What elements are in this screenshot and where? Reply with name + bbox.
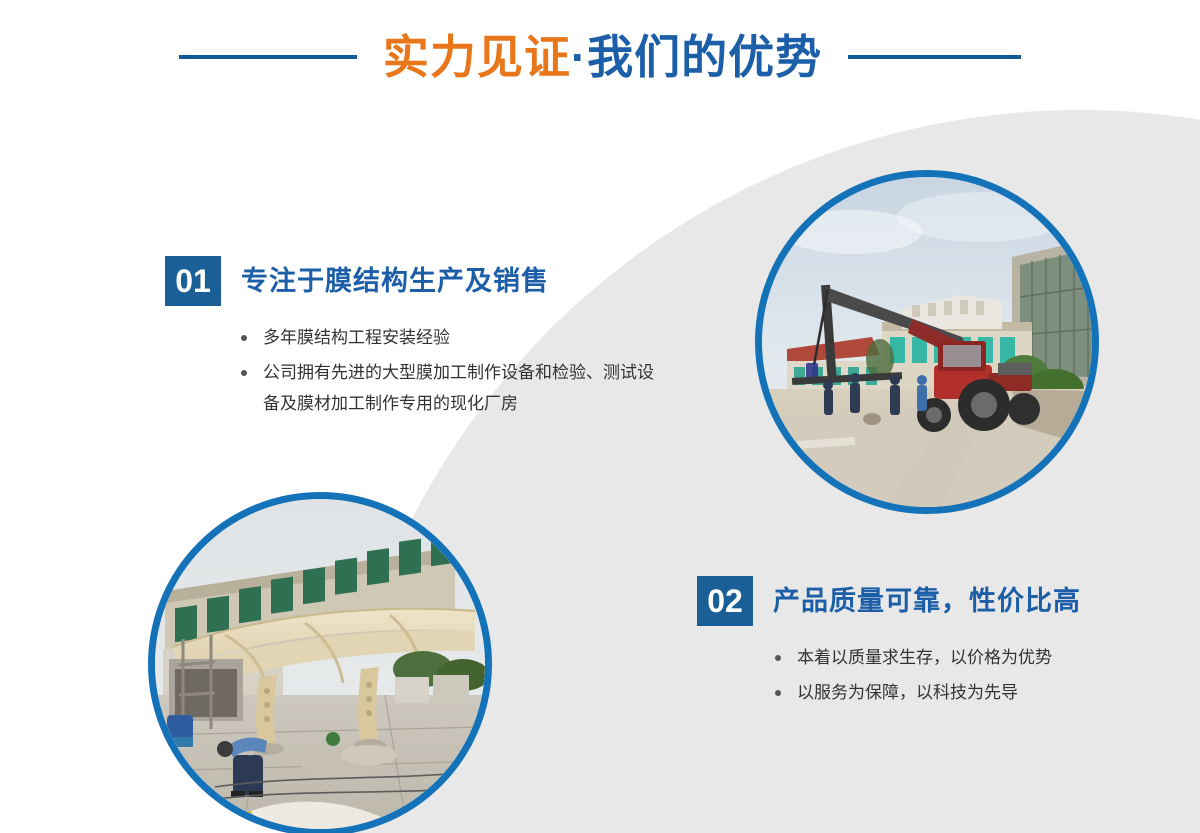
photo-2-illustration	[155, 499, 485, 829]
header-rule-left	[179, 55, 357, 59]
membrane-canopy-photo	[148, 492, 492, 833]
header-rule-right	[848, 55, 1021, 59]
page-title: 实力见证·我们的优势	[383, 34, 822, 80]
photo-1-frame	[762, 177, 1092, 507]
feature-02-number-badge: 02	[697, 576, 753, 626]
promo-page: 实力见证·我们的优势	[0, 0, 1200, 833]
photo-1-illustration	[762, 177, 1092, 507]
section-header: 实力见证·我们的优势	[0, 22, 1200, 92]
list-item: 以服务为保障，以科技为先导	[775, 677, 1167, 708]
feature-block-01: 01 专注于膜结构生产及销售 多年膜结构工程安装经验 公司拥有先进的大型膜加工制…	[165, 256, 685, 423]
crane-tractor-installation-photo	[755, 170, 1099, 514]
list-item: 公司拥有先进的大型膜加工制作设备和检验、测试设备及膜材加工制作专用的现化厂房	[241, 357, 661, 419]
feature-02-bullet-list: 本着以质量求生存，以价格为优势 以服务为保障，以科技为先导	[697, 642, 1167, 708]
page-title-highlight: 实力见证	[383, 31, 571, 83]
feature-block-02: 02 产品质量可靠，性价比高 本着以质量求生存，以价格为优势 以服务为保障，以科…	[697, 576, 1167, 712]
list-item: 本着以质量求生存，以价格为优势	[775, 642, 1167, 673]
feature-01-number-badge: 01	[165, 256, 221, 306]
list-item: 多年膜结构工程安装经验	[241, 322, 685, 353]
feature-02-title: 产品质量可靠，性价比高	[773, 588, 1081, 615]
feature-02-header: 02 产品质量可靠，性价比高	[697, 576, 1167, 626]
page-title-rest: ·我们的优势	[571, 31, 822, 83]
feature-01-title: 专注于膜结构生产及销售	[241, 268, 549, 295]
feature-01-bullet-list: 多年膜结构工程安装经验 公司拥有先进的大型膜加工制作设备和检验、测试设备及膜材加…	[165, 322, 685, 419]
photo-2-frame	[155, 499, 485, 829]
feature-01-header: 01 专注于膜结构生产及销售	[165, 256, 685, 306]
